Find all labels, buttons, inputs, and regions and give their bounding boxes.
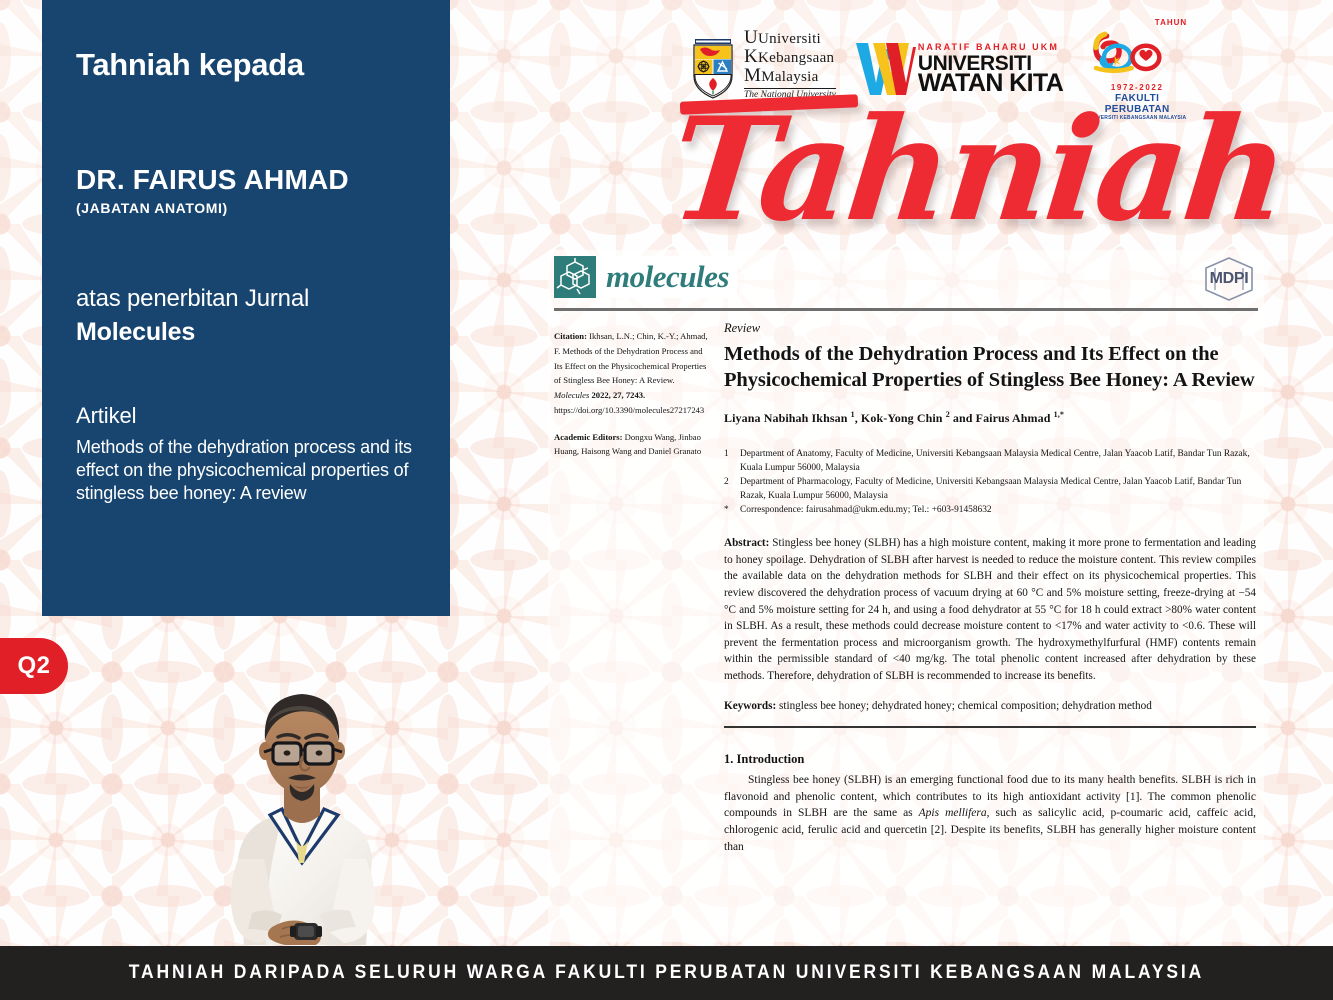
ukm-line-1-text: Universiti [758, 31, 821, 47]
anniversary-tahun-label: TAHUN [1081, 18, 1193, 27]
academic-editors-block: Academic Editors: Dongxu Wang, Jinbao Hu… [554, 430, 710, 460]
citation-doi[interactable]: https://doi.org/10.3390/molecules2721724… [554, 405, 704, 415]
announcement-panel: Tahniah kepada DR. FAIRUS AHMAD (JABATAN… [42, 0, 450, 616]
keywords-line: Keywords: stingless bee honey; dehydrate… [724, 700, 1256, 712]
citation-label: Citation: [554, 331, 587, 341]
introduction-paragraph: Stingless bee honey (SLBH) is an emergin… [724, 772, 1256, 856]
affiliation-marker: * [724, 504, 733, 517]
watan-tagline: NARATIF BAHARU UKM [918, 43, 1063, 52]
portrait-illustration [178, 645, 426, 945]
ukm-line-2-text: Kebangsaan [758, 50, 834, 66]
quartile-badge: Q2 [0, 638, 68, 694]
ukm-line-2: KKebangsaan [744, 47, 836, 66]
abstract-text: Stingless bee honey (SLBH) has a high mo… [724, 537, 1256, 682]
molecules-journal-logo: molecules [554, 256, 737, 298]
mdpi-publisher-logo: MDPI [1202, 256, 1256, 302]
publication-label: atas penerbitan Jurnal [76, 284, 416, 314]
honoree-department: (JABATAN ANATOMI) [76, 200, 416, 216]
ukm-line-1: UUniversiti [744, 28, 836, 47]
molecule-structure-icon [554, 256, 596, 298]
journal-header: molecules MDPI [548, 250, 1264, 302]
panel-greeting: Tahniah kepada [76, 48, 416, 82]
editors-label: Academic Editors: [554, 432, 623, 442]
citation-block: Citation: Ikhsan, L.N.; Chin, K.-Y.; Ahm… [554, 329, 710, 418]
keywords-label: Keywords: [724, 700, 776, 712]
molecules-wordmark: molecules [606, 259, 729, 295]
affiliation-item: 2 Department of Pharmacology, Faculty of… [724, 476, 1256, 503]
introduction-species-name: Apis mellifera [919, 807, 987, 819]
keywords-divider [724, 726, 1256, 728]
honoree-portrait-photo [178, 645, 426, 945]
affiliation-item: * Correspondence: fairusahmad@ukm.edu.my… [724, 504, 1256, 517]
honoree-name: DR. FAIRUS AHMAD [76, 164, 416, 196]
journal-article-preview: molecules MDPI Citation: Ikhsan, L.N.; C… [548, 250, 1264, 942]
article-authors: Liyana Nabihah Ikhsan 1, Kok-Yong Chin 2… [724, 410, 1256, 426]
affiliation-item: 1 Department of Anatomy, Faculty of Medi… [724, 448, 1256, 475]
article-body: Citation: Ikhsan, L.N.; Chin, K.-Y.; Ahm… [548, 311, 1264, 856]
correspondence-text[interactable]: Correspondence: fairusahmad@ukm.edu.my; … [740, 504, 1256, 517]
affiliation-text: Department of Pharmacology, Faculty of M… [740, 476, 1256, 503]
quartile-badge-label: Q2 [17, 652, 50, 680]
article-label: Artikel [76, 403, 416, 429]
article-title: Methods of the dehydration process and i… [76, 436, 416, 505]
affiliation-text: Department of Anatomy, Faculty of Medici… [740, 448, 1256, 475]
abstract-paragraph: Abstract: Stingless bee honey (SLBH) has… [724, 535, 1256, 684]
citation-journal: Molecules [554, 390, 589, 400]
footer-banner-text: TAHNIAH DARIPADA SELURUH WARGA FAKULTI P… [129, 962, 1204, 984]
poster-canvas: UUniversiti KKebangsaan MMalaysia The Na… [0, 0, 1333, 1000]
article-type-kicker: Review [724, 321, 1256, 336]
affiliations-list: 1 Department of Anatomy, Faculty of Medi… [724, 448, 1256, 517]
hexagon-molecule-icon [554, 256, 596, 298]
keywords-text: stingless bee honey; dehydrated honey; c… [779, 700, 1152, 712]
affiliation-marker: 2 [724, 476, 733, 503]
affiliation-marker: 1 [724, 448, 733, 475]
citation-volume: 2022, 27, 7243. [589, 390, 645, 400]
tahniah-script-wordmark: Tahniah [662, 78, 1221, 263]
abstract-label: Abstract: [724, 537, 769, 549]
journal-name: Molecules [76, 318, 416, 347]
mdpi-wordmark: MDPI [1202, 256, 1256, 302]
article-sidebar: Citation: Ikhsan, L.N.; Chin, K.-Y.; Ahm… [554, 321, 710, 856]
article-headline: Methods of the Dehydration Process and I… [724, 341, 1256, 393]
introduction-heading: 1. Introduction [724, 752, 1256, 767]
anniversary-50-mark-icon [1081, 27, 1193, 77]
article-main-column: Review Methods of the Dehydration Proces… [724, 321, 1256, 856]
footer-banner: TAHNIAH DARIPADA SELURUH WARGA FAKULTI P… [0, 946, 1333, 1000]
